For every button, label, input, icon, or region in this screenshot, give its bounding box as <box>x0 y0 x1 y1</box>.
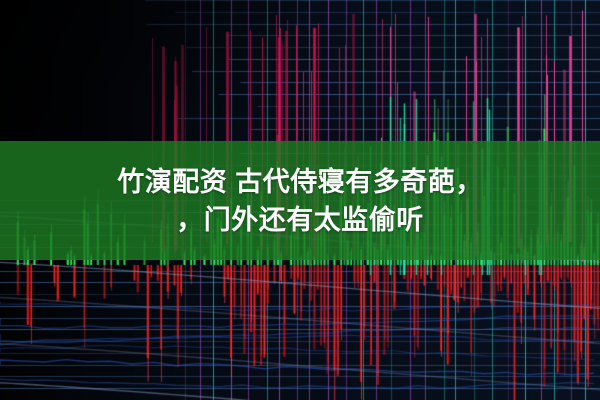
chart-canvas <box>0 0 600 400</box>
stock-chart <box>0 0 600 400</box>
screenshot-root: 竹演配资 古代侍寝有多奇葩， ，门外还有太监偷听 <box>0 0 600 400</box>
